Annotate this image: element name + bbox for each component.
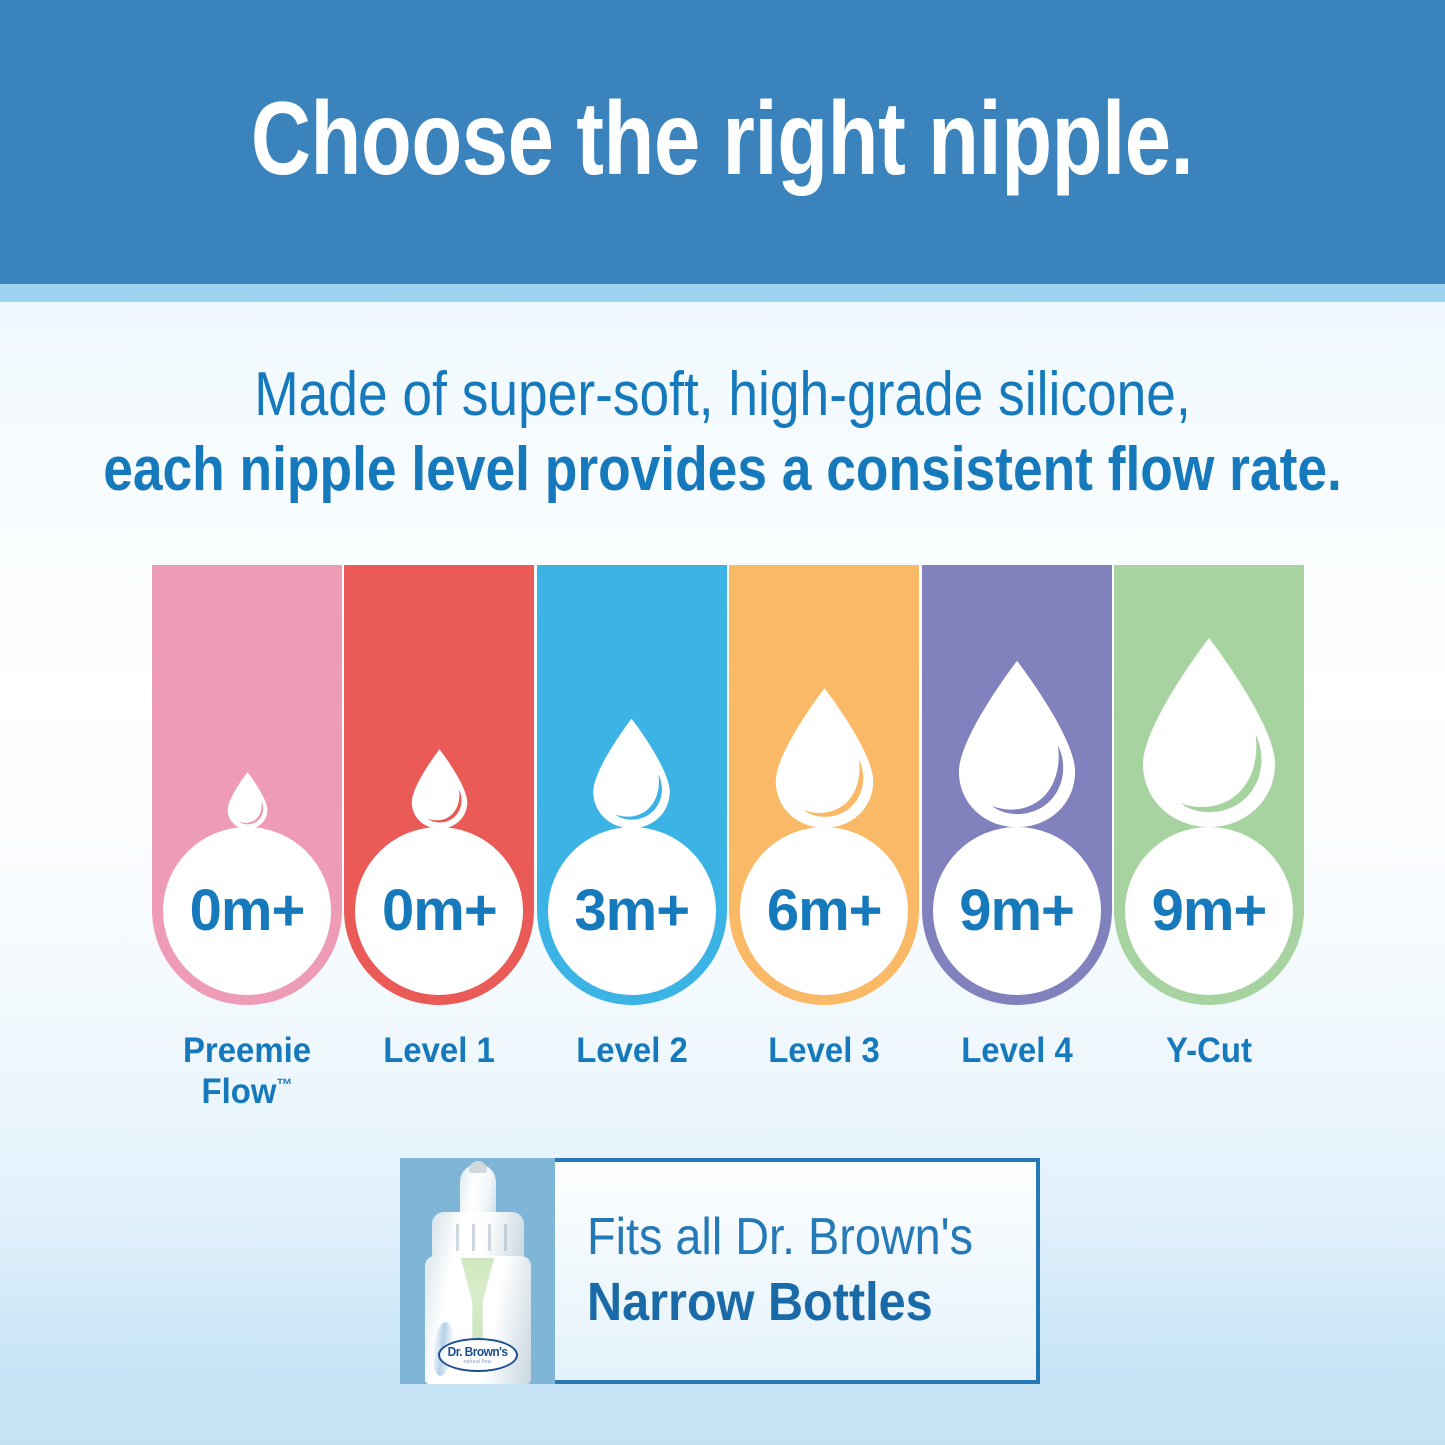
nipple-level-column[interactable]: 6m+	[729, 565, 919, 1005]
level-caption: Level 3	[735, 1030, 914, 1113]
subtitle-block: Made of super-soft, high-grade silicone,…	[0, 360, 1445, 506]
age-badge: 9m+	[933, 827, 1101, 995]
water-droplet-icon	[769, 686, 880, 830]
age-badge: 6m+	[740, 827, 908, 995]
droplet-wrap	[1114, 610, 1304, 830]
infographic-root: Choose the right nipple. Made of super-s…	[0, 0, 1445, 1445]
level-caption: Level 4	[927, 1030, 1106, 1113]
trademark-symbol: ™	[276, 1076, 292, 1095]
nipple-level-column[interactable]: 9m+	[1114, 565, 1304, 1005]
droplet-wrap	[922, 610, 1112, 830]
age-label: 6m+	[767, 882, 882, 940]
water-droplet-icon	[408, 748, 471, 830]
age-label: 9m+	[1152, 882, 1267, 940]
subtitle-line-2: each nipple level provides a consistent …	[101, 433, 1344, 506]
age-badge: 9m+	[1125, 827, 1293, 995]
level-caption: Level 1	[350, 1030, 529, 1113]
water-droplet-icon	[588, 717, 675, 830]
droplet-wrap	[729, 610, 919, 830]
water-droplet-icon	[951, 658, 1083, 830]
page-title: Choose the right nipple.	[251, 87, 1194, 191]
water-droplet-icon	[1134, 635, 1284, 830]
subtitle-line-1: Made of super-soft, high-grade silicone,	[101, 360, 1344, 431]
water-droplet-icon	[225, 771, 270, 830]
nipple-level-chart: 0m+0m+3m+6m+9m+9m+	[152, 565, 1304, 1005]
callout-text-panel: Fits all Dr. Brown's Narrow Bottles	[555, 1158, 1040, 1384]
age-badge: 0m+	[163, 827, 331, 995]
fits-all-callout: Dr. Brown's natural flow Fits all Dr. Br…	[400, 1158, 1040, 1384]
droplet-wrap	[152, 610, 342, 830]
callout-line-1: Fits all Dr. Brown's	[587, 1209, 991, 1266]
level-caption: Y-Cut	[1120, 1030, 1299, 1113]
age-label: 0m+	[382, 882, 497, 940]
header-band: Choose the right nipple.	[0, 0, 1445, 284]
callout-line-2: Narrow Bottles	[587, 1271, 991, 1333]
nipple-level-column[interactable]: 9m+	[922, 565, 1112, 1005]
droplet-wrap	[344, 610, 534, 830]
bottle-collar	[432, 1212, 524, 1260]
level-caption: Level 2	[542, 1030, 721, 1113]
age-badge: 0m+	[355, 827, 523, 995]
droplet-wrap	[537, 610, 727, 830]
age-label: 0m+	[190, 882, 305, 940]
header-underline-strip	[0, 284, 1445, 302]
age-label: 3m+	[574, 882, 689, 940]
level-caption-row: Preemie Flow™Level 1Level 2Level 3Level …	[152, 1030, 1304, 1113]
nipple-level-column[interactable]: 0m+	[152, 565, 342, 1005]
nipple-level-column[interactable]: 0m+	[344, 565, 534, 1005]
level-caption: Preemie Flow™	[158, 1030, 337, 1113]
dr-browns-logo-tagline: natural flow	[464, 1360, 492, 1365]
baby-bottle-illustration: Dr. Brown's natural flow	[419, 1162, 537, 1384]
age-badge: 3m+	[548, 827, 716, 995]
dr-browns-logo-text: Dr. Brown's	[448, 1345, 508, 1358]
bottle-photo: Dr. Brown's natural flow	[400, 1158, 555, 1384]
age-label: 9m+	[959, 882, 1074, 940]
nipple-level-column[interactable]: 3m+	[537, 565, 727, 1005]
bottle-nipple-tip	[469, 1161, 487, 1173]
dr-browns-logo: Dr. Brown's natural flow	[438, 1338, 518, 1372]
